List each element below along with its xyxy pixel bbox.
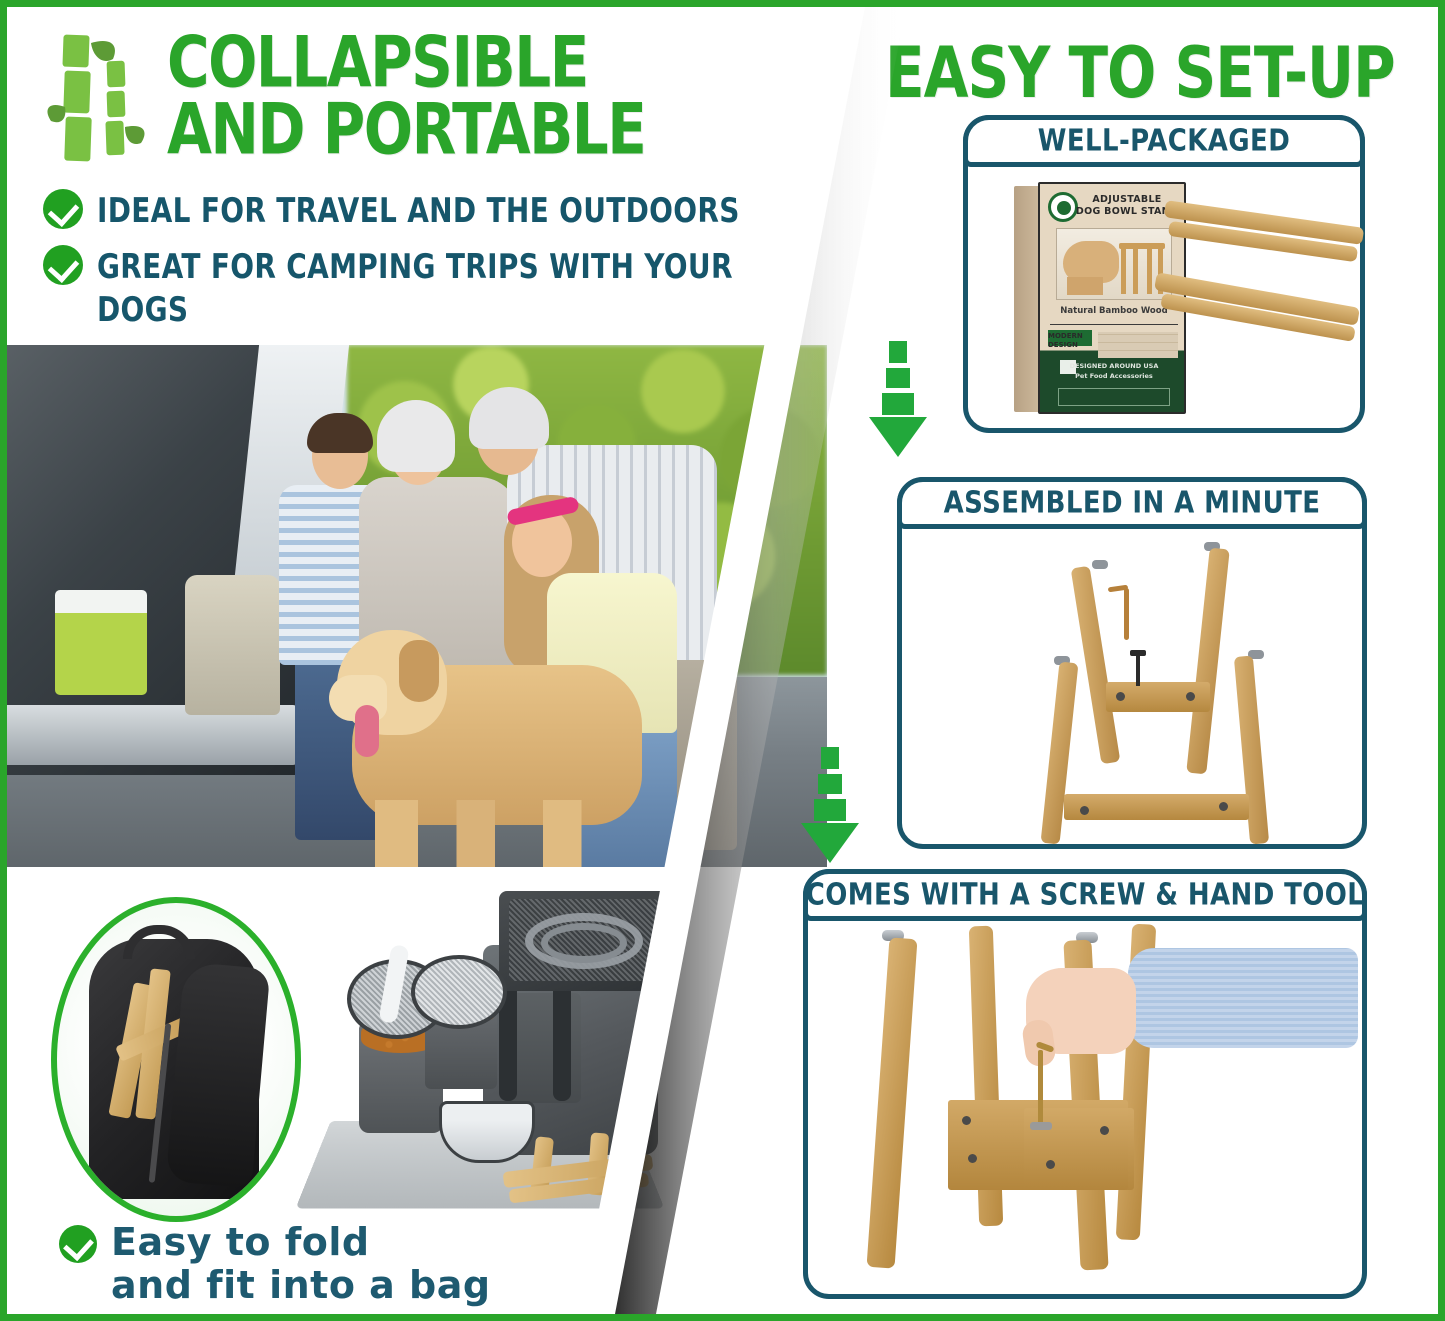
step-title: ASSEMBLED IN A MINUTE: [944, 485, 1321, 520]
dog-ear: [399, 640, 439, 702]
box-product-image: [1056, 228, 1172, 300]
check-circle-icon: [43, 189, 83, 229]
assembled-stand-image: [964, 544, 1304, 844]
stand-leg: [1071, 566, 1121, 765]
fold-note-line-2: and fit into a bag: [111, 1264, 491, 1307]
box-size-bar: [1058, 388, 1170, 406]
section-title-easy-to-setup: EASY TO SET-UP: [885, 31, 1395, 114]
right-panel: EASY TO SET-UP WELL-PACKAGED: [707, 7, 1438, 1314]
step-title-box: COMES WITH A SCREW & HAND TOOL: [803, 869, 1367, 921]
list-item-label: IDEAL FOR TRAVEL AND THE OUTDOORS: [97, 187, 740, 232]
step-card-screw-tool: COMES WITH A SCREW & HAND TOOL: [803, 869, 1367, 1299]
down-arrow-icon: [799, 745, 861, 865]
box-subtitle: Natural Bamboo Wood: [1054, 306, 1174, 316]
leash-coil: [541, 923, 627, 963]
screw-icon: [1136, 654, 1140, 686]
box-footer-line-1: DESIGNED AROUND USA: [1058, 362, 1170, 372]
hand-assembly-image: [838, 930, 1348, 1290]
travel-bag-scene: [303, 893, 688, 1223]
screw-dot: [1080, 806, 1089, 815]
divider: [1050, 324, 1178, 325]
leg-cap: [1092, 560, 1108, 569]
screw-dot: [1046, 1160, 1055, 1169]
screw-dot: [1116, 692, 1125, 701]
screw-icon: [1030, 1122, 1052, 1130]
product-box: ADJUSTABLE DOG BOWL STAND: [1014, 182, 1186, 412]
family-photo: [7, 345, 827, 867]
screw-dot: [968, 1154, 977, 1163]
box-side-line-2: MODERN: [1048, 332, 1096, 341]
dog-tongue: [355, 705, 379, 757]
product-photo: [13, 885, 693, 1225]
down-arrow-icon: [867, 339, 929, 459]
bamboo-icon: [45, 29, 155, 179]
step-title-box: ASSEMBLED IN A MINUTE: [897, 477, 1367, 529]
blue-sweater-sleeve: [1128, 948, 1358, 1048]
backpack-handle: [123, 925, 195, 959]
screw-dot: [962, 1116, 971, 1125]
allen-key-icon: [1124, 588, 1129, 640]
infographic-page: COLLAPSIBLE AND PORTABLE IDEAL FOR TRAVE…: [0, 0, 1445, 1321]
stand-leg: [1133, 248, 1138, 294]
box-side-line-3: DESIGN: [1048, 341, 1096, 350]
bamboo-parts: [1164, 194, 1364, 344]
fold-note: Easy to fold and fit into a bag: [59, 1221, 491, 1306]
screw-dot: [1186, 692, 1195, 701]
travel-bag: [185, 575, 280, 715]
stand-leg: [1121, 248, 1126, 294]
step-card-well-packaged: WELL-PACKAGED ADJUSTABLE DOG BOWL STAND: [963, 115, 1365, 433]
cooler-box: [55, 590, 147, 695]
screw-dot: [1219, 802, 1228, 811]
box-dog-legs: [1067, 277, 1103, 295]
fold-note-line-1: Easy to fold: [111, 1221, 491, 1264]
stand-leg: [1186, 548, 1230, 775]
dog-legs: [375, 800, 615, 867]
check-circle-icon: [43, 245, 83, 285]
box-footer-line-2: Pet Food Accessories: [1058, 372, 1170, 382]
mesh-lid: [411, 955, 507, 1029]
check-circle-icon: [59, 1225, 97, 1263]
backpack-inset-circle: [51, 897, 301, 1222]
stand-leg: [867, 937, 918, 1268]
box-footer-text: DESIGNED AROUND USA Pet Food Accessories: [1058, 362, 1170, 382]
step-title-box: WELL-PACKAGED: [963, 115, 1365, 167]
step-title: WELL-PACKAGED: [1038, 123, 1290, 158]
step-title: COMES WITH A SCREW & HAND TOOL: [806, 877, 1365, 912]
box-side-text: MODERN DESIGN: [1048, 332, 1096, 350]
screw-dot: [1100, 1126, 1109, 1135]
grandmother-hair: [377, 400, 455, 472]
stand-leg: [1147, 248, 1152, 294]
allen-key-icon: [1038, 1050, 1043, 1128]
box-spine: [1014, 186, 1040, 412]
bag-handle: [553, 983, 571, 1101]
step-card-assembled: ASSEMBLED IN A MINUTE: [897, 477, 1367, 849]
folded-bamboo-stand: [503, 1129, 653, 1203]
